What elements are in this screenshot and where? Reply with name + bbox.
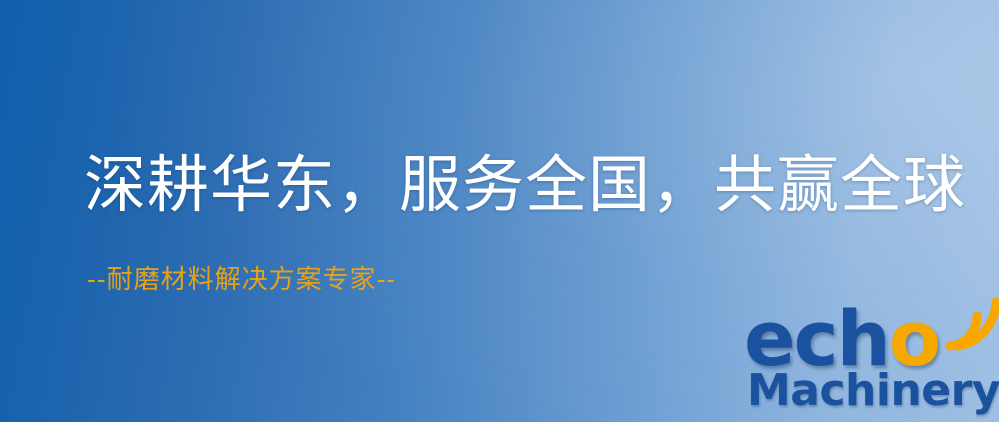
- logo-tagline: Machinery®: [747, 365, 999, 416]
- logo-tagline-text: Machinery: [747, 365, 999, 416]
- logo-wordmark: echo: [744, 296, 939, 374]
- page-subtitle: --耐磨材料解决方案专家--: [87, 265, 396, 296]
- company-logo: echo Machinery®: [744, 296, 996, 422]
- logo-text-o: o: [889, 304, 939, 374]
- signal-arcs-icon: [940, 294, 999, 354]
- logo-text-ech: ech: [744, 304, 889, 374]
- promo-banner: 深耕华东，服务全国，共赢全球 --耐磨材料解决方案专家-- echo Machi…: [0, 0, 999, 422]
- page-title: 深耕华东，服务全国，共赢全球: [84, 152, 966, 217]
